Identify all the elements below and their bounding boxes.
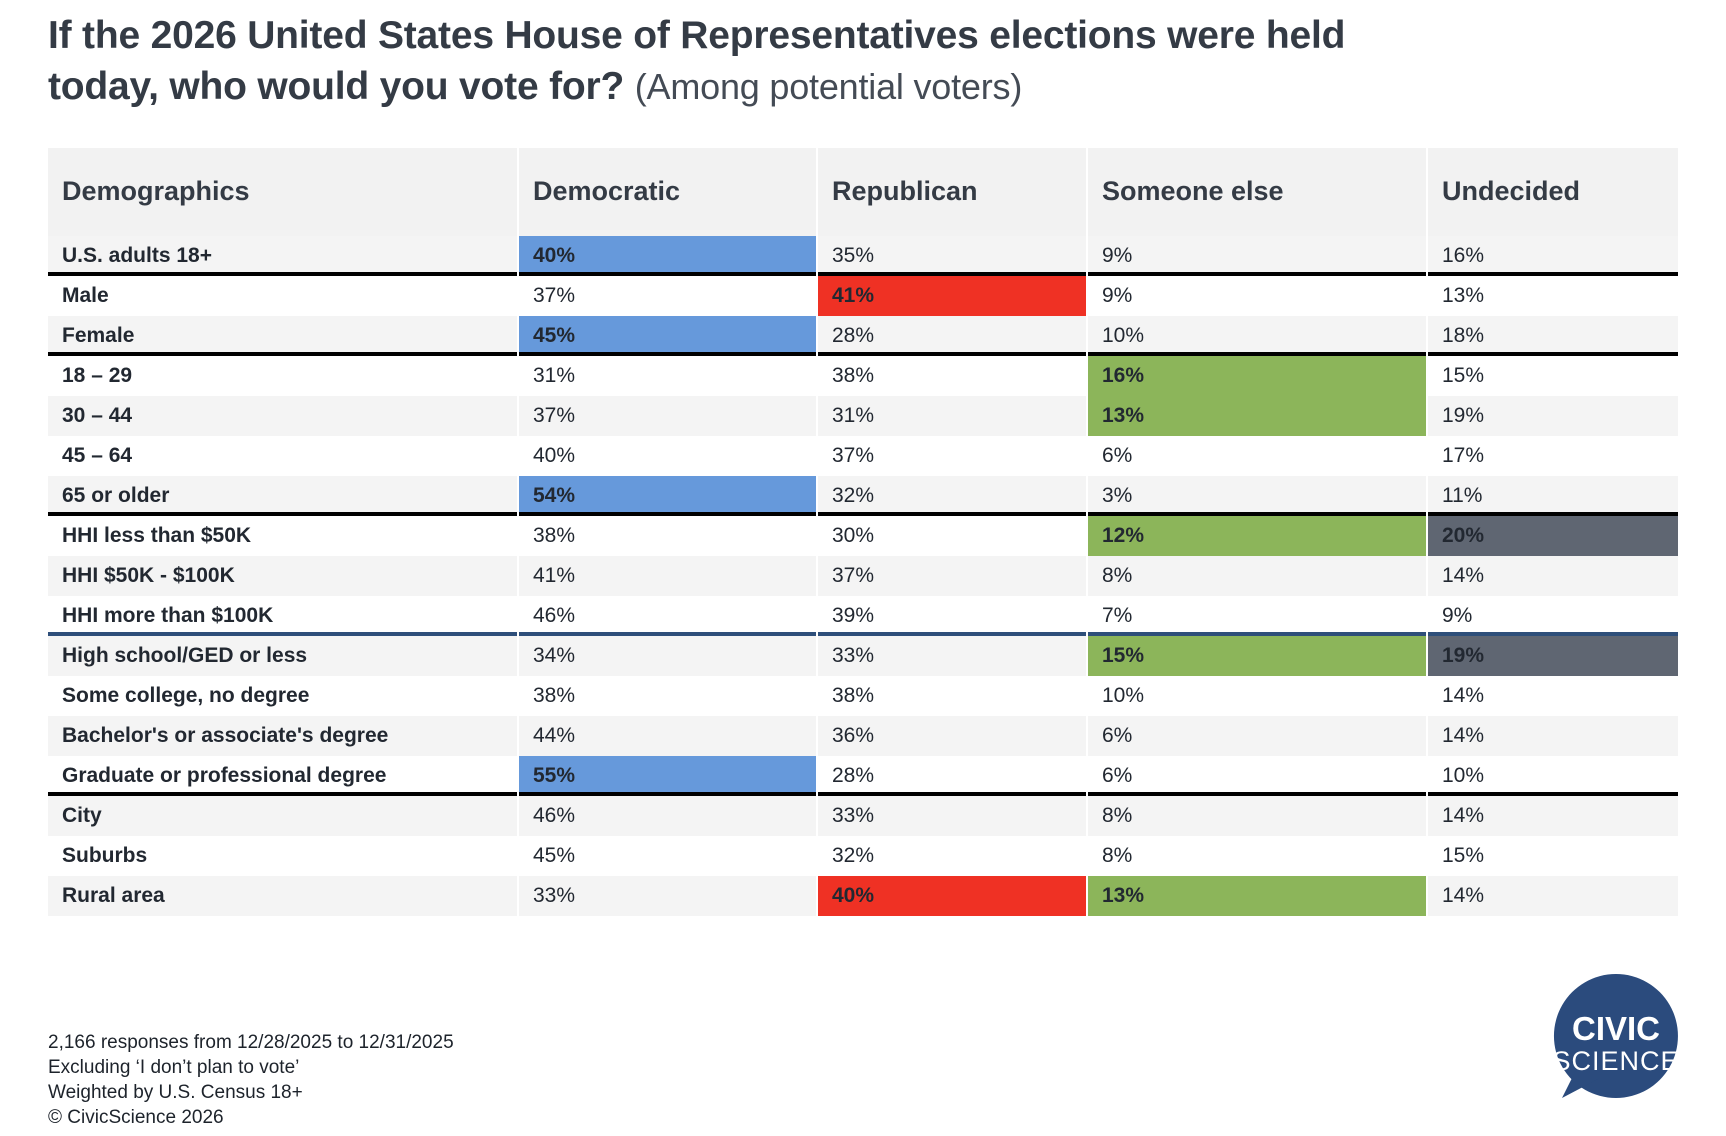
column-header-demographics: Demographics [48, 148, 518, 236]
column-header-democratic: Democratic [518, 148, 817, 236]
cell-republican: 38% [817, 676, 1087, 716]
row-label: 18 – 29 [48, 356, 518, 396]
column-header-someone-else: Someone else [1087, 148, 1427, 236]
cell-republican: 41% [817, 276, 1087, 316]
cell-democratic: 40% [518, 436, 817, 476]
cell-undecided: 9% [1427, 596, 1678, 636]
row-label: Suburbs [48, 836, 518, 876]
cell-republican: 32% [817, 836, 1087, 876]
cell-undecided: 14% [1427, 556, 1678, 596]
column-header-republican: Republican [817, 148, 1087, 236]
cell-democratic: 31% [518, 356, 817, 396]
title-question: today, who would you vote for? [48, 65, 624, 108]
footnote-weighting: Weighted by U.S. Census 18+ [48, 1080, 454, 1105]
cell-someone-else: 7% [1087, 596, 1427, 636]
cell-democratic: 45% [518, 316, 817, 356]
table-row: 30 – 4437%31%13%19% [48, 396, 1678, 436]
cell-someone-else: 8% [1087, 796, 1427, 836]
cell-democratic: 37% [518, 396, 817, 436]
cell-undecided: 17% [1427, 436, 1678, 476]
cell-democratic: 54% [518, 476, 817, 516]
poll-table: Demographics Democratic Republican Someo… [48, 148, 1678, 916]
row-label: Rural area [48, 876, 518, 916]
table-row: Male37%41%9%13% [48, 276, 1678, 316]
row-label: HHI more than $100K [48, 596, 518, 636]
cell-democratic: 55% [518, 756, 817, 796]
cell-someone-else: 10% [1087, 316, 1427, 356]
poll-table-container: Demographics Democratic Republican Someo… [48, 148, 1678, 916]
cell-someone-else: 12% [1087, 516, 1427, 556]
cell-republican: 33% [817, 636, 1087, 676]
cell-democratic: 34% [518, 636, 817, 676]
header-row: Demographics Democratic Republican Someo… [48, 148, 1678, 236]
table-row: Female45%28%10%18% [48, 316, 1678, 356]
cell-republican: 30% [817, 516, 1087, 556]
cell-democratic: 46% [518, 796, 817, 836]
cell-republican: 39% [817, 596, 1087, 636]
cell-someone-else: 9% [1087, 276, 1427, 316]
cell-undecided: 14% [1427, 716, 1678, 756]
cell-undecided: 19% [1427, 636, 1678, 676]
row-label: 30 – 44 [48, 396, 518, 436]
footnote-excluding: Excluding ‘I don’t plan to vote’ [48, 1055, 454, 1080]
table-row: 45 – 6440%37%6%17% [48, 436, 1678, 476]
cell-undecided: 10% [1427, 756, 1678, 796]
cell-republican: 31% [817, 396, 1087, 436]
cell-republican: 28% [817, 316, 1087, 356]
cell-someone-else: 10% [1087, 676, 1427, 716]
cell-republican: 37% [817, 556, 1087, 596]
cell-republican: 40% [817, 876, 1087, 916]
table-row: High school/GED or less34%33%15%19% [48, 636, 1678, 676]
cell-someone-else: 3% [1087, 476, 1427, 516]
cell-republican: 35% [817, 236, 1087, 276]
poll-table-page: If the 2026 United States House of Repre… [0, 0, 1726, 1136]
cell-democratic: 37% [518, 276, 817, 316]
cell-undecided: 16% [1427, 236, 1678, 276]
row-label: Some college, no degree [48, 676, 518, 716]
cell-democratic: 33% [518, 876, 817, 916]
cell-someone-else: 6% [1087, 436, 1427, 476]
cell-someone-else: 9% [1087, 236, 1427, 276]
row-label: High school/GED or less [48, 636, 518, 676]
cell-republican: 32% [817, 476, 1087, 516]
cell-democratic: 45% [518, 836, 817, 876]
cell-republican: 33% [817, 796, 1087, 836]
table-header: Demographics Democratic Republican Someo… [48, 148, 1678, 236]
title-line-1: If the 2026 United States House of Repre… [48, 10, 1668, 61]
table-row: HHI more than $100K46%39%7%9% [48, 596, 1678, 636]
row-label: Male [48, 276, 518, 316]
table-body: U.S. adults 18+40%35%9%16%Male37%41%9%13… [48, 236, 1678, 916]
cell-republican: 38% [817, 356, 1087, 396]
row-label: Bachelor's or associate's degree [48, 716, 518, 756]
cell-undecided: 15% [1427, 836, 1678, 876]
cell-democratic: 38% [518, 676, 817, 716]
cell-republican: 36% [817, 716, 1087, 756]
cell-someone-else: 13% [1087, 396, 1427, 436]
table-row: 65 or older54%32%3%11% [48, 476, 1678, 516]
table-row: U.S. adults 18+40%35%9%16% [48, 236, 1678, 276]
cell-democratic: 41% [518, 556, 817, 596]
row-label: HHI less than $50K [48, 516, 518, 556]
cell-undecided: 14% [1427, 796, 1678, 836]
table-row: Graduate or professional degree55%28%6%1… [48, 756, 1678, 796]
table-row: Some college, no degree38%38%10%14% [48, 676, 1678, 716]
row-label: U.S. adults 18+ [48, 236, 518, 276]
cell-democratic: 44% [518, 716, 817, 756]
svg-text:CIVIC: CIVIC [1572, 1010, 1660, 1047]
table-row: City46%33%8%14% [48, 796, 1678, 836]
table-row: Suburbs45%32%8%15% [48, 836, 1678, 876]
cell-someone-else: 8% [1087, 836, 1427, 876]
footnote: 2,166 responses from 12/28/2025 to 12/31… [48, 1030, 454, 1130]
row-label: 65 or older [48, 476, 518, 516]
title-line-2: today, who would you vote for? (Among po… [48, 61, 1668, 112]
svg-text:SCIENCE: SCIENCE [1552, 1046, 1679, 1076]
table-row: 18 – 2931%38%16%15% [48, 356, 1678, 396]
cell-someone-else: 13% [1087, 876, 1427, 916]
cell-undecided: 20% [1427, 516, 1678, 556]
page-title: If the 2026 United States House of Repre… [48, 10, 1668, 112]
cell-undecided: 11% [1427, 476, 1678, 516]
speech-bubble-icon: CIVIC SCIENCE [1542, 966, 1690, 1114]
cell-republican: 37% [817, 436, 1087, 476]
footnote-responses: 2,166 responses from 12/28/2025 to 12/31… [48, 1030, 454, 1055]
table-row: HHI $50K - $100K41%37%8%14% [48, 556, 1678, 596]
cell-undecided: 15% [1427, 356, 1678, 396]
cell-someone-else: 16% [1087, 356, 1427, 396]
cell-someone-else: 6% [1087, 716, 1427, 756]
cell-democratic: 40% [518, 236, 817, 276]
cell-undecided: 14% [1427, 876, 1678, 916]
cell-someone-else: 15% [1087, 636, 1427, 676]
cell-democratic: 38% [518, 516, 817, 556]
civicscience-logo: CIVIC SCIENCE [1542, 966, 1690, 1114]
row-label: 45 – 64 [48, 436, 518, 476]
cell-undecided: 18% [1427, 316, 1678, 356]
cell-undecided: 14% [1427, 676, 1678, 716]
cell-someone-else: 8% [1087, 556, 1427, 596]
row-label: HHI $50K - $100K [48, 556, 518, 596]
table-row: Rural area33%40%13%14% [48, 876, 1678, 916]
row-label: City [48, 796, 518, 836]
footnote-copyright: © CivicScience 2026 [48, 1105, 454, 1130]
row-label: Female [48, 316, 518, 356]
table-row: HHI less than $50K38%30%12%20% [48, 516, 1678, 556]
table-row: Bachelor's or associate's degree44%36%6%… [48, 716, 1678, 756]
cell-republican: 28% [817, 756, 1087, 796]
row-label: Graduate or professional degree [48, 756, 518, 796]
cell-undecided: 19% [1427, 396, 1678, 436]
column-header-undecided: Undecided [1427, 148, 1678, 236]
title-subnote: (Among potential voters) [635, 66, 1022, 107]
cell-democratic: 46% [518, 596, 817, 636]
cell-undecided: 13% [1427, 276, 1678, 316]
cell-someone-else: 6% [1087, 756, 1427, 796]
